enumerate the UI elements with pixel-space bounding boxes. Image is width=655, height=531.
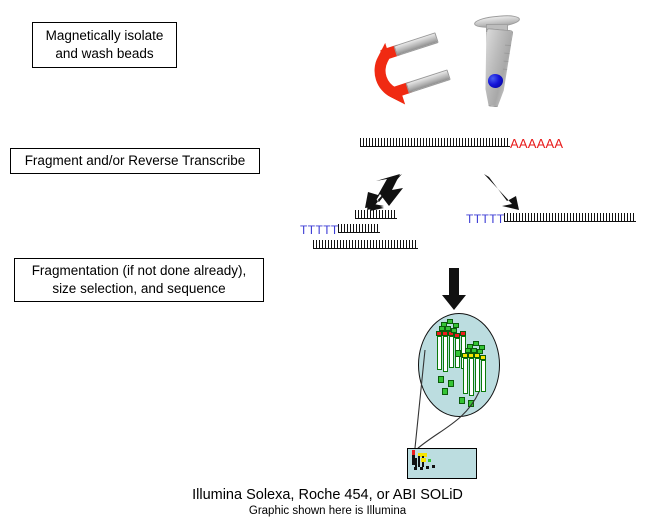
magnification-callout-lines (395, 330, 525, 460)
microcentrifuge-tube-icon (470, 16, 522, 110)
step-box-magnetic-isolation: Magnetically isolate and wash beads (32, 22, 177, 68)
diagram-canvas: Magnetically isolate and wash beads Frag… (0, 0, 655, 531)
step-box-3-line-1: Fragmentation (if not done already), (32, 262, 247, 280)
flowcell-detail-icon (407, 448, 477, 479)
fragment-left-top (355, 210, 397, 219)
polyt-primer-left-label: TTTTT (300, 224, 339, 236)
mrna-body (360, 138, 510, 147)
caption-block: Illumina Solexa, Roche 454, or ABI SOLiD… (0, 487, 655, 518)
fragment-right-with-polyt: TTTTT (466, 213, 636, 222)
arrow-down-right-icon (478, 172, 524, 214)
tube-body (480, 28, 514, 108)
arrow-down-icon (440, 268, 468, 312)
polyt-primer-right-label: TTTTT (466, 213, 505, 225)
step-box-1-line-2: and wash beads (55, 45, 153, 63)
step-box-fragment-reverse-transcribe: Fragment and/or Reverse Transcribe (10, 148, 260, 174)
fragment-left-bottom (313, 240, 418, 249)
polya-tail-label: AAAAAA (510, 137, 563, 150)
caption-note: Graphic shown here is Illumina (0, 504, 655, 518)
magnet-pole-top (393, 32, 438, 56)
horseshoe-magnet-icon (355, 27, 465, 116)
step-box-2-line-1: Fragment and/or Reverse Transcribe (25, 152, 246, 170)
step-box-3-line-2: size selection, and sequence (52, 280, 225, 298)
step-box-1-line-1: Magnetically isolate (46, 27, 164, 45)
step-box-fragmentation-size-selection: Fragmentation (if not done already), siz… (14, 258, 264, 302)
arrow-down-left-icon (362, 172, 408, 214)
caption-platforms: Illumina Solexa, Roche 454, or ABI SOLiD (0, 487, 655, 504)
fragment-left-middle-with-polyt: TTTTT (300, 224, 400, 233)
mrna-strand-with-polya: AAAAAA (360, 138, 572, 147)
